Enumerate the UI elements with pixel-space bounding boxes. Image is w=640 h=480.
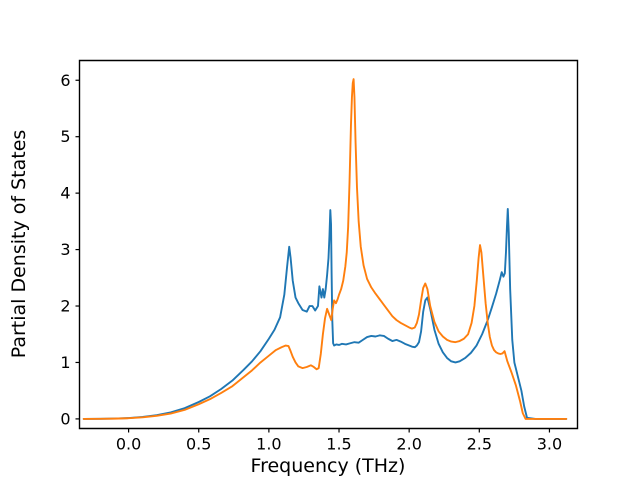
x-tick-label: 3.0	[537, 435, 562, 454]
chart-background	[0, 0, 640, 480]
pdos-line-chart: 0.00.51.01.52.02.53.0 0123456 Frequency …	[0, 0, 640, 480]
y-axis-label: Partial Density of States	[8, 130, 30, 359]
figure-canvas: 0.00.51.01.52.02.53.0 0123456 Frequency …	[0, 0, 640, 480]
y-tick-label: 4	[60, 184, 70, 203]
x-tick-label: 0.5	[186, 435, 211, 454]
y-tick-label: 1	[60, 353, 70, 372]
y-tick-label: 6	[60, 71, 70, 90]
x-axis-label: Frequency (THz)	[251, 455, 406, 477]
y-tick-label: 5	[60, 127, 70, 146]
y-tick-label: 2	[60, 297, 70, 316]
x-tick-label: 2.5	[467, 435, 492, 454]
x-tick-label: 2.0	[396, 435, 421, 454]
x-tick-label: 1.0	[256, 435, 281, 454]
y-tick-label: 0	[60, 409, 70, 428]
x-tick-label: 0.0	[116, 435, 141, 454]
y-tick-label: 3	[60, 240, 70, 259]
x-tick-label: 1.5	[326, 435, 351, 454]
